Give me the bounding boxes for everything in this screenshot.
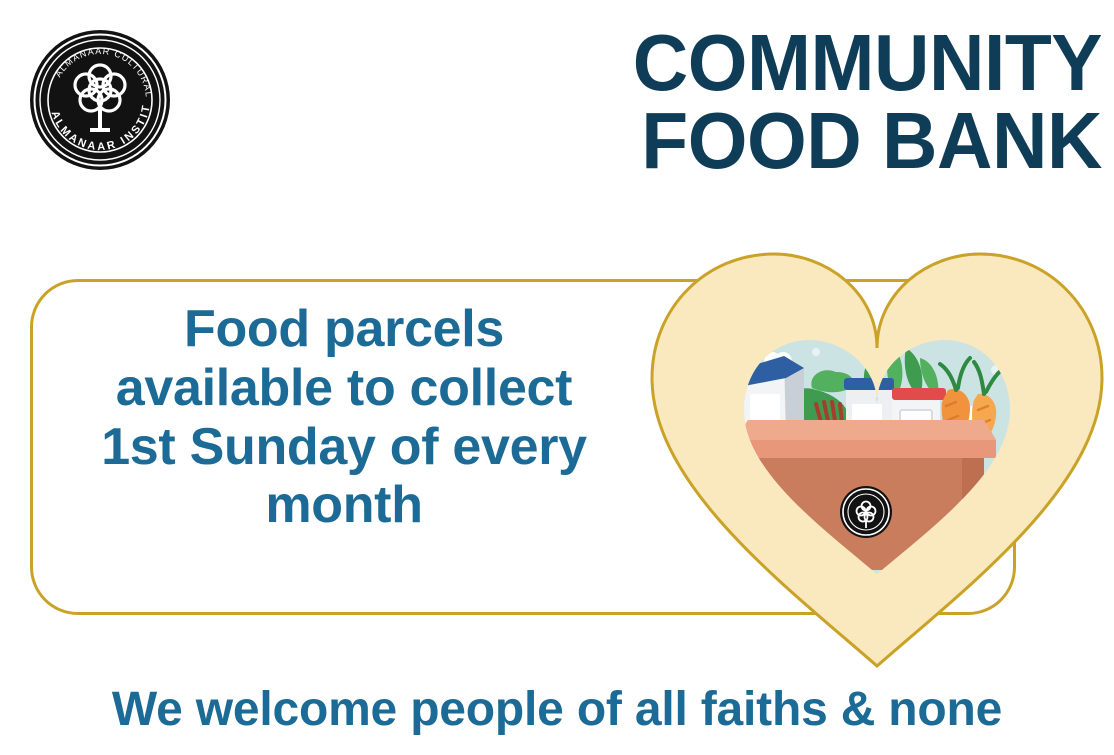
welcome-message: We welcome people of all faiths & none	[0, 686, 1114, 734]
almanaar-institute-seal-icon: ALMANAAR INSTITUTE ALMANAAR CULTURAL HER…	[28, 28, 172, 172]
box-seal-icon	[840, 486, 892, 538]
callout-line-3: 1st Sunday of every	[34, 418, 654, 477]
poster-root: ALMANAAR INSTITUTE ALMANAAR CULTURAL HER…	[0, 0, 1114, 755]
callout-line-2: available to collect	[34, 359, 654, 418]
callout-line-1: Food parcels	[34, 300, 654, 359]
callout-line-4: month	[34, 476, 654, 535]
callout-message: Food parcels available to collect 1st Su…	[34, 300, 654, 535]
heart-illustration	[640, 244, 1114, 674]
page-title: COMMUNITY FOOD BANK	[457, 24, 1102, 181]
title-line-1: COMMUNITY	[457, 24, 1102, 102]
title-line-2: FOOD BANK	[457, 102, 1102, 180]
